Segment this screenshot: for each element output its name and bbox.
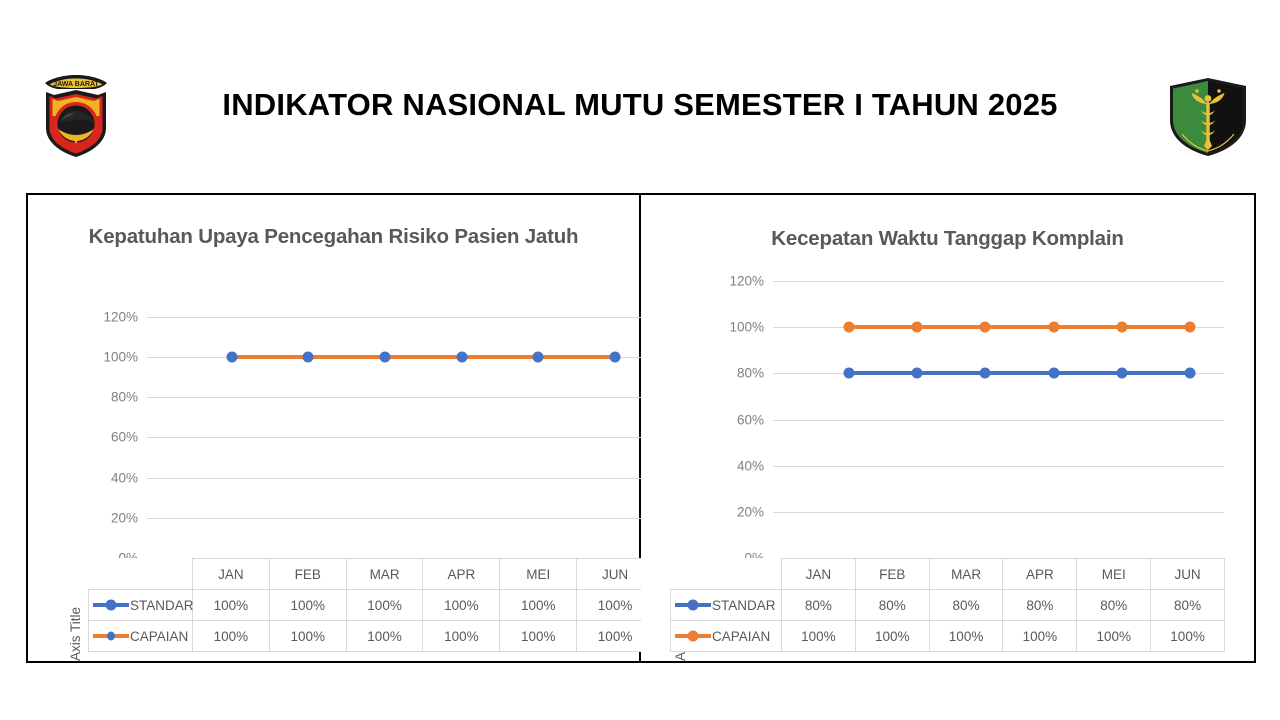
table-corner-cell [671,559,782,590]
table-header-row: JAN FEB MAR APR MEI JUN [671,559,1225,590]
chart-panel-kecepatan-waktu-tanggap-komplain[interactable]: Kecepatan Waktu Tanggap Komplain Axis Ti… [641,195,1254,661]
gridline-80 [147,397,654,398]
series-line-capaian [849,325,1190,329]
legend-marker-standar-icon [93,599,129,611]
cell-capaian-mar: 100% [346,621,423,652]
legend-entry-capaian[interactable]: CAPAIAN [89,621,193,652]
cell-capaian-jan: 100% [193,621,270,652]
data-point-standar-jun [1185,368,1196,379]
y-axis-title-left: Axis Title [68,607,83,661]
cell-standar-mei: 100% [500,590,577,621]
column-header-mar: MAR [346,559,423,590]
legend-label-standar: STANDAR [130,598,194,613]
column-header-mar: MAR [929,559,1003,590]
gridline-40 [773,466,1224,467]
data-point-standar-jan [844,368,855,379]
cell-standar-mei: 80% [1077,590,1151,621]
data-point-standar-jan [227,352,238,363]
biddokkes-health-shield-badge-icon [1168,76,1248,158]
cell-standar-mar: 100% [346,590,423,621]
y-tick-label: 80% [111,390,138,405]
legend-entry-standar[interactable]: STANDAR [89,590,193,621]
gridline-20 [147,518,654,519]
data-point-capaian-jan [844,322,855,333]
y-tick-label: 20% [737,505,764,520]
cell-standar-apr: 80% [1003,590,1077,621]
data-point-standar-mar [380,352,391,363]
chart-title-right: Kecepatan Waktu Tanggap Komplain [645,225,1250,253]
data-point-capaian-apr [1049,322,1060,333]
y-tick-label: 120% [103,310,138,325]
table-corner-cell [89,559,193,590]
series-line-standar [849,371,1190,375]
cell-capaian-mei: 100% [1077,621,1151,652]
y-tick-label: 60% [737,413,764,428]
cell-standar-feb: 100% [269,590,346,621]
legend-entry-capaian[interactable]: CAPAIAN [671,621,782,652]
chart-area-right: Kecepatan Waktu Tanggap Komplain Axis Ti… [645,199,1250,657]
gridline-120 [773,281,1224,282]
legend-entry-standar[interactable]: STANDAR [671,590,782,621]
column-header-feb: FEB [855,559,929,590]
gridline-20 [773,512,1224,513]
legend-marker-standar-icon [675,599,711,611]
cell-standar-apr: 100% [423,590,500,621]
gridline-120 [147,317,654,318]
y-tick-label: 120% [729,274,764,289]
data-point-standar-apr [457,352,468,363]
data-point-capaian-feb [912,322,923,333]
plot-area-right: 120% 100% 80% 60% 40% 20% 0% [773,281,1224,558]
cell-standar-jun: 80% [1151,590,1225,621]
column-header-mei: MEI [1077,559,1151,590]
data-table-right[interactable]: JAN FEB MAR APR MEI JUN STANDA [670,558,1225,652]
chart-panel-kepatuhan-upaya-pencegahan-risiko-pasien-jatuh[interactable]: Kepatuhan Upaya Pencegahan Risiko Pasien… [28,195,641,661]
y-tick-label: 80% [737,366,764,381]
cell-capaian-apr: 100% [1003,621,1077,652]
chart-area-left: Kepatuhan Upaya Pencegahan Risiko Pasien… [32,199,635,657]
column-header-jan: JAN [193,559,270,590]
page-title: INDIKATOR NASIONAL MUTU SEMESTER I TAHUN… [150,87,1130,123]
cell-standar-jan: 80% [782,590,856,621]
table-row: STANDAR 80% 80% 80% 80% 80% 80% [671,590,1225,621]
column-header-apr: APR [1003,559,1077,590]
data-point-standar-apr [1049,368,1060,379]
data-point-standar-mei [533,352,544,363]
cell-capaian-apr: 100% [423,621,500,652]
cell-capaian-mei: 100% [500,621,577,652]
cell-capaian-jun: 100% [1151,621,1225,652]
y-tick-label: 40% [111,471,138,486]
cell-standar-jan: 100% [193,590,270,621]
gridline-40 [147,478,654,479]
data-point-standar-jun [610,352,621,363]
data-table-left[interactable]: JAN FEB MAR APR MEI JUN STANDA [88,558,654,652]
data-point-standar-mar [980,368,991,379]
y-tick-label: 60% [111,430,138,445]
cell-capaian-jan: 100% [782,621,856,652]
cell-capaian-feb: 100% [269,621,346,652]
polda-jawa-barat-badge-icon: JAWA BARAT [32,70,120,160]
y-tick-label: 100% [729,320,764,335]
column-header-jan: JAN [782,559,856,590]
data-point-standar-feb [912,368,923,379]
y-tick-label: 20% [111,511,138,526]
data-point-capaian-mar [980,322,991,333]
column-header-feb: FEB [269,559,346,590]
cell-standar-feb: 80% [855,590,929,621]
svg-text:JAWA BARAT: JAWA BARAT [53,81,99,88]
data-point-capaian-jun [1185,322,1196,333]
data-point-standar-feb [303,352,314,363]
table-row: CAPAIAN 100% 100% 100% 100% 100% 100% [671,621,1225,652]
table-row: STANDAR 100% 100% 100% 100% 100% 100% [89,590,654,621]
plot-area-left: 120% 100% 80% 60% 40% 20% 0% [147,317,654,558]
cell-capaian-feb: 100% [855,621,929,652]
data-point-capaian-mei [1117,322,1128,333]
gridline-60 [147,437,654,438]
cell-standar-mar: 80% [929,590,1003,621]
legend-label-standar: STANDAR [712,598,776,613]
cell-capaian-mar: 100% [929,621,1003,652]
y-tick-label: 40% [737,459,764,474]
page-header: JAWA BARAT INDIKATOR NASIONAL MUTU SEMES… [0,62,1280,167]
legend-label-capaian: CAPAIAN [130,629,188,644]
gridline-60 [773,420,1224,421]
column-header-apr: APR [423,559,500,590]
column-header-mei: MEI [500,559,577,590]
chart-title-left: Kepatuhan Upaya Pencegahan Risiko Pasien… [32,223,635,251]
column-header-jun: JUN [1151,559,1225,590]
y-tick-label: 100% [103,350,138,365]
table-header-row: JAN FEB MAR APR MEI JUN [89,559,654,590]
table-row: CAPAIAN 100% 100% 100% 100% 100% 100% [89,621,654,652]
data-point-standar-mei [1117,368,1128,379]
legend-label-capaian: CAPAIAN [712,629,770,644]
legend-marker-capaian-icon [93,630,129,642]
series-line-capaian [232,355,615,359]
charts-frame: Kepatuhan Upaya Pencegahan Risiko Pasien… [26,193,1256,663]
legend-marker-capaian-icon [675,630,711,642]
